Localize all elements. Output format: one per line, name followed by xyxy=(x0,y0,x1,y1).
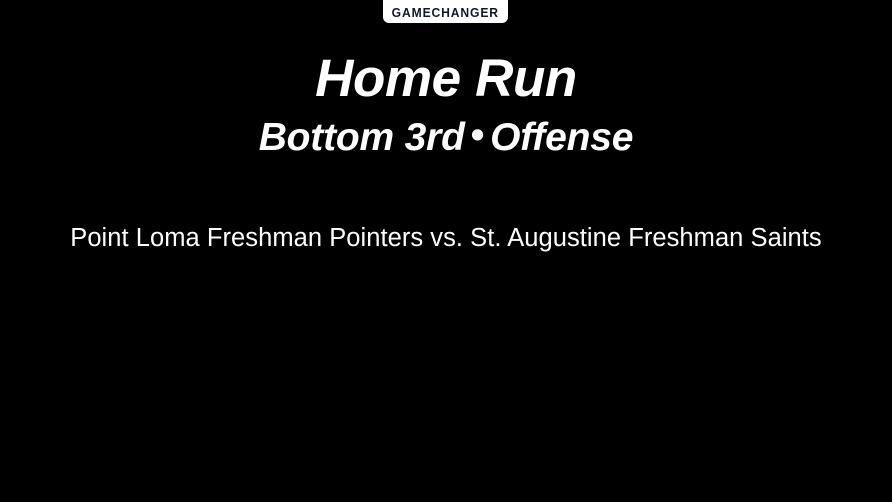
play-context: Bottom 3rd•Offense xyxy=(0,117,892,160)
context-separator-bullet: • xyxy=(465,115,490,158)
play-title: Home Run xyxy=(0,50,892,107)
matchup-line: Point Loma Freshman Pointers vs. St. Aug… xyxy=(0,223,892,255)
broadcast-play-card: GAMECHANGER Home Run Bottom 3rd•Offense … xyxy=(0,0,892,502)
lower-stage-area xyxy=(0,262,892,502)
gamechanger-logo-badge: GAMECHANGER xyxy=(383,0,508,23)
gamechanger-wordmark: GAMECHANGER xyxy=(392,7,499,20)
play-side: Offense xyxy=(490,116,633,159)
play-inning: Bottom 3rd xyxy=(259,116,465,159)
